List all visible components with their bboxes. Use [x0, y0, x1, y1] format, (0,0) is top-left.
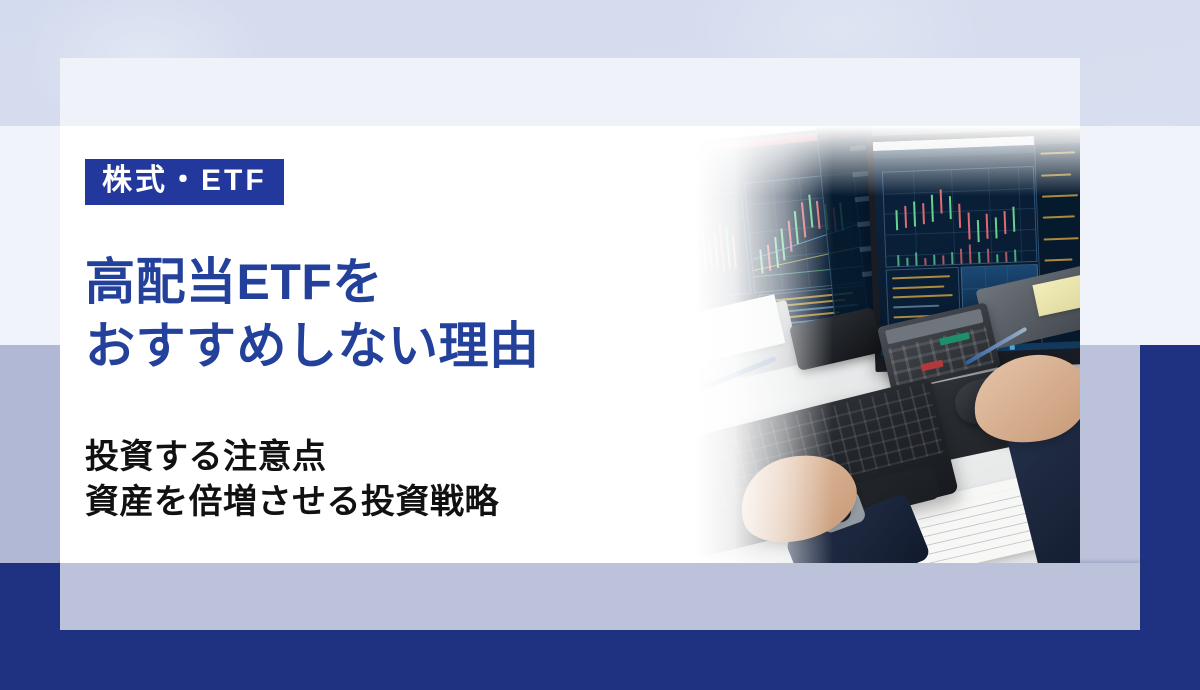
thumbnail-canvas: DELL [0, 0, 1200, 690]
page-title: 高配当ETFを おすすめしない理由 [85, 250, 685, 378]
trading-desk-photo: DELL [643, 126, 1080, 563]
photo-inner: DELL [643, 126, 1080, 563]
background-periwinkle-under-card [60, 563, 1140, 630]
page-subtitle: 投資する注意点 資産を倍増させる投資戦略 [85, 435, 685, 525]
category-badge[interactable]: 株式・ETF [85, 159, 284, 205]
card-top-tint [60, 58, 1080, 126]
background-navy-right [1140, 345, 1200, 690]
